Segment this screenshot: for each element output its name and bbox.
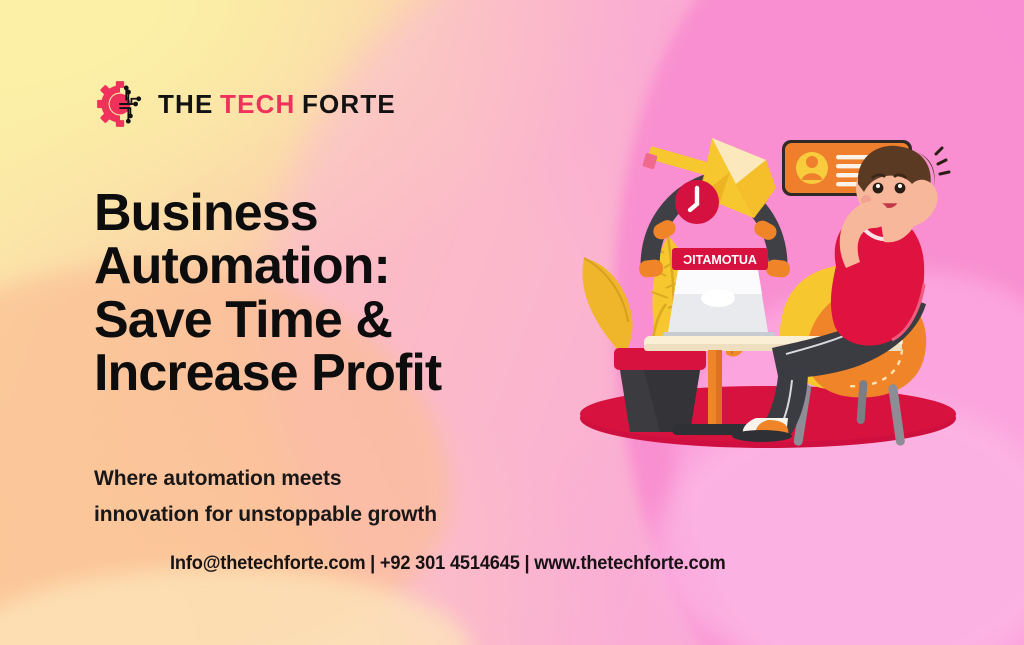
contact-bar: Info@thetechforte.com|+92 301 4514645|ww…	[170, 553, 725, 575]
contact-website[interactable]: www.thetechforte.com	[534, 553, 725, 574]
logo-word-tech: TECH	[220, 89, 295, 119]
subheading-line-1: Where automation meets	[94, 461, 534, 497]
promo-banner: THETECHFORTE Business Automation: Save T…	[0, 0, 1024, 645]
headline-line-2: Automation:	[94, 240, 564, 294]
plant-pot-rim	[614, 348, 706, 370]
gear-circuit-icon	[94, 78, 146, 130]
business-automation-illustration: AUTOMATIC	[540, 118, 980, 468]
subheading: Where automation meets innovation for un…	[94, 461, 534, 533]
laptop-label: AUTOMATIC	[683, 253, 757, 267]
logo-word-forte: FORTE	[302, 89, 396, 119]
brand-logo[interactable]: THETECHFORTE	[94, 78, 396, 130]
headline: Business Automation: Save Time & Increas…	[94, 187, 564, 401]
contact-separator-2: |	[524, 553, 529, 574]
logo-word-the: THE	[158, 89, 214, 119]
contact-email[interactable]: Info@thetechforte.com	[170, 553, 365, 574]
contact-separator-1: |	[370, 553, 375, 574]
headline-line-4: Increase Profit	[94, 347, 564, 401]
clock-badge-icon	[675, 180, 719, 224]
headline-line-3: Save Time &	[94, 294, 564, 348]
headline-line-1: Business	[94, 187, 564, 241]
contact-phone[interactable]: +92 301 4514645	[380, 553, 520, 574]
brand-name: THETECHFORTE	[158, 91, 396, 117]
laptop[interactable]: AUTOMATIC	[660, 248, 778, 342]
subheading-line-2: innovation for unstoppable growth	[94, 497, 534, 533]
illustration-svg: AUTOMATIC	[540, 118, 980, 468]
